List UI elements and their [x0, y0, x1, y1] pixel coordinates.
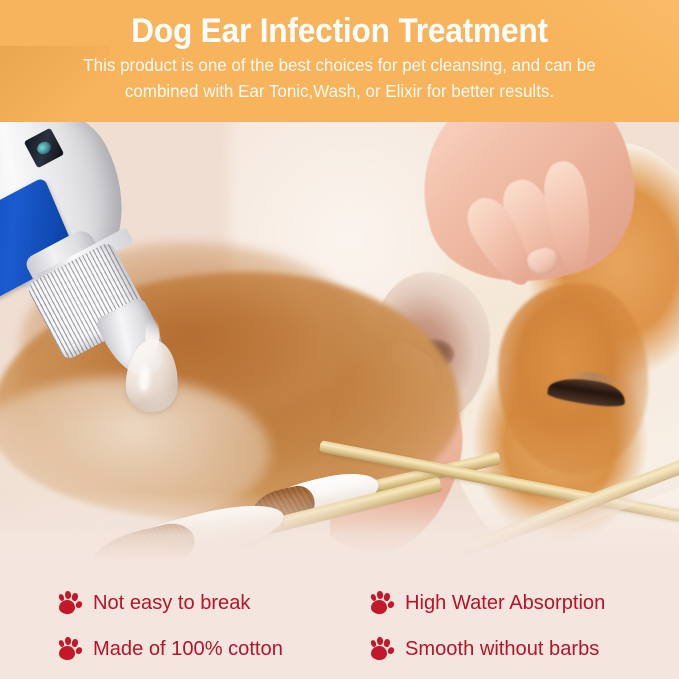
feature-item-high-water-absorption: High Water Absorption — [370, 580, 679, 626]
feature-item-made-of-cotton: Made of 100% cotton — [58, 626, 370, 672]
feature-item-not-easy-to-break: Not easy to break — [58, 580, 370, 626]
header-banner: Dog Ear Infection Treatment This product… — [0, 0, 679, 122]
product-infographic-card: Dog Ear Infection Treatment This product… — [0, 0, 679, 679]
page-title: Dog Ear Infection Treatment — [24, 11, 655, 51]
header-content: Dog Ear Infection Treatment This product… — [0, 0, 679, 103]
feature-list: Not easy to break High Water Absorption … — [0, 562, 679, 679]
feature-grid: Not easy to break High Water Absorption … — [0, 562, 679, 672]
feature-item-smooth-without-barbs: Smooth without barbs — [370, 626, 679, 672]
feature-label: Not easy to break — [93, 591, 250, 615]
paw-print-icon — [370, 637, 394, 661]
feature-label: Made of 100% cotton — [93, 637, 283, 661]
paw-print-icon — [58, 637, 82, 661]
product-photo — [0, 122, 679, 562]
header-subtitle-line-1: This product is one of the best choices … — [10, 51, 669, 77]
feature-label: Smooth without barbs — [405, 637, 599, 661]
paw-print-icon — [370, 591, 394, 615]
header-subtitle-line-2: combined with Ear Tonic,Wash, or Elixir … — [10, 77, 669, 103]
feature-label: High Water Absorption — [405, 591, 605, 615]
photo-bottom-fade — [0, 492, 679, 562]
paw-print-icon — [58, 591, 82, 615]
